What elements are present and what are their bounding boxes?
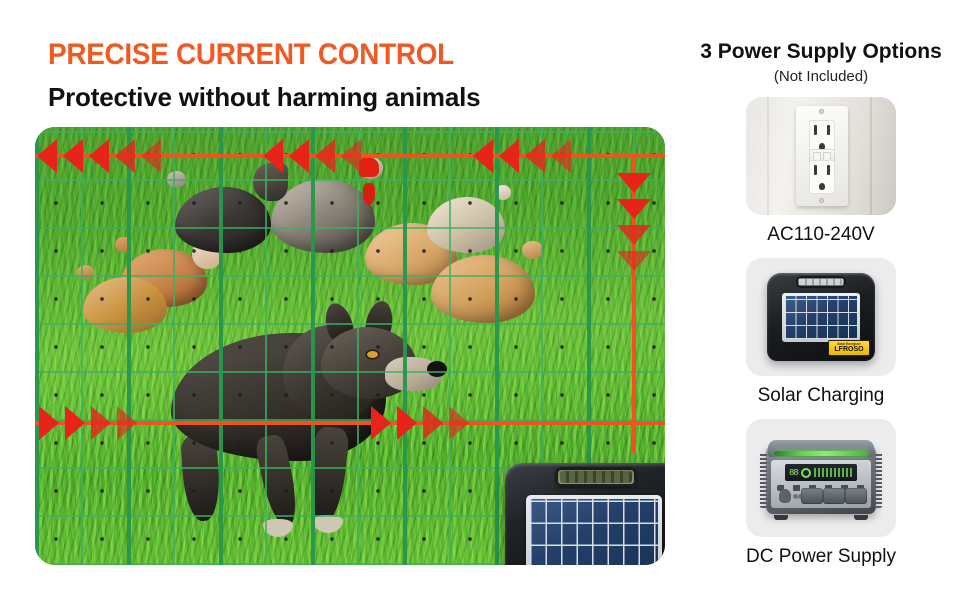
flow-chevron-down [617, 251, 651, 271]
flow-chevron-left [263, 139, 283, 173]
wall-outlet-gfci-icon [746, 97, 896, 215]
power-option-caption: Solar Charging [736, 385, 906, 407]
flow-chevron-left [341, 139, 361, 173]
flow-chevron-left [89, 139, 109, 173]
flow-chevron-down [617, 173, 651, 193]
lcd-value: 88 [789, 468, 798, 478]
flow-chevron-right [39, 406, 59, 440]
device-handle [555, 467, 637, 487]
outlet-receptacle-bottom [809, 160, 835, 194]
station-lcd-display: 88 [785, 464, 857, 481]
main-product-photo: Solar Energizer LFROSO [35, 127, 665, 565]
flow-chevron-right [449, 406, 469, 440]
station-vent-right [875, 452, 882, 508]
badge-line-2: LFROSO [834, 346, 863, 354]
flow-chevron-right [91, 406, 111, 440]
power-options-title: 3 Power Supply Options [676, 40, 966, 64]
solar-energizer-icon: Solar Energizer LFROSO [767, 273, 875, 361]
flow-chevron-down [617, 199, 651, 219]
station-dc-port [779, 489, 791, 503]
flow-chevron-right [397, 406, 417, 440]
station-foot [854, 515, 868, 520]
power-option-solar[interactable]: Solar Energizer LFROSO Solar Charging [736, 258, 906, 407]
page-subheadline: Protective without harming animals [48, 82, 480, 113]
flow-chevron-left [37, 139, 57, 173]
power-option-dc[interactable]: 88 DC Power Supply [736, 419, 906, 568]
portable-power-station-icon: 88 [758, 436, 884, 520]
flow-chevron-left [63, 139, 83, 173]
station-foot [774, 515, 788, 520]
device-solar-panel-frame [526, 495, 661, 565]
page-headline: PRECISE CURRENT CONTROL [48, 38, 454, 72]
solar-brand-badge: Solar Energizer LFROSO [828, 340, 870, 356]
flow-chevron-right [65, 406, 85, 440]
flow-chevron-left [141, 139, 161, 173]
station-ac-socket [845, 488, 867, 504]
flow-chevron-right [371, 406, 391, 440]
faceplate-screw [819, 198, 824, 203]
lcd-bars [814, 468, 853, 477]
power-option-ac[interactable]: AC110-240V [736, 97, 906, 246]
outlet-slot [827, 125, 830, 135]
faceplate-screw [819, 109, 824, 114]
outlet-slot [827, 165, 830, 175]
flow-chevron-right [423, 406, 443, 440]
power-option-caption: AC110-240V [736, 224, 906, 246]
wall-seam [870, 97, 872, 215]
solar-charging-thumbnail: Solar Energizer LFROSO [746, 258, 896, 376]
flow-chevron-left [315, 139, 335, 173]
lcd-ring-icon [801, 468, 811, 478]
flow-chevron-right [117, 406, 137, 440]
power-options-subtitle: (Not Included) [676, 68, 966, 85]
product-feature-page: PRECISE CURRENT CONTROL Protective witho… [0, 0, 970, 600]
wall-seam [767, 97, 769, 215]
flow-chevron-left [473, 139, 493, 173]
device-solar-cells [530, 499, 657, 565]
solar-panel-frame [782, 293, 860, 342]
flow-chevron-left [551, 139, 571, 173]
station-vent-left [760, 452, 767, 508]
outlet-slot [814, 165, 817, 175]
flow-chevron-left [115, 139, 135, 173]
flow-chevron-left [499, 139, 519, 173]
ac-outlet-thumbnail [746, 97, 896, 215]
outlet-faceplate [796, 106, 849, 205]
dc-power-thumbnail: 88 [746, 419, 896, 537]
station-ac-socket [823, 488, 845, 504]
power-option-caption: DC Power Supply [736, 546, 906, 568]
outlet-ground-pin [819, 183, 825, 190]
station-ac-socket [801, 488, 823, 504]
flow-chevron-left [289, 139, 309, 173]
flow-chevron-down [617, 225, 651, 245]
outlet-slot [814, 125, 817, 135]
solar-energizer-device: Solar Energizer LFROSO [505, 463, 665, 565]
station-front-face: 88 [771, 460, 871, 508]
solar-panel-cells [785, 296, 857, 339]
station-led-strip [774, 451, 868, 456]
flow-chevron-left [525, 139, 545, 173]
solar-device-handle [796, 276, 846, 288]
